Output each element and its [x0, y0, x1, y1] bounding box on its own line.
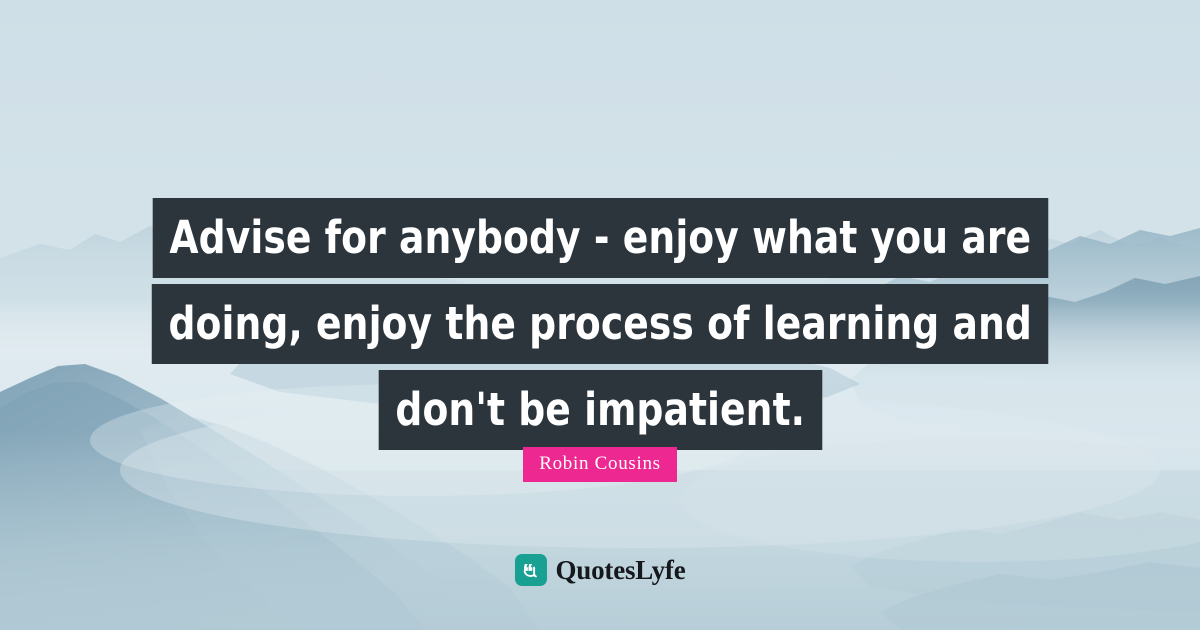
author-name: Robin Cousins	[523, 447, 677, 482]
author-attribution: Robin Cousins	[0, 447, 1200, 482]
quote-line-1: Advise for anybody - enjoy what you are	[152, 198, 1047, 278]
brand-watermark: QuotesLyfe	[0, 554, 1200, 586]
quote-line-3: don't be impatient.	[378, 370, 821, 450]
quote-text-block: Advise for anybody - enjoy what you are …	[0, 198, 1200, 450]
brand-name: QuotesLyfe	[556, 557, 686, 584]
quote-card: Advise for anybody - enjoy what you are …	[0, 0, 1200, 630]
quote-line-2: doing, enjoy the process of learning and	[152, 284, 1049, 364]
quote-mark-icon	[515, 554, 547, 586]
